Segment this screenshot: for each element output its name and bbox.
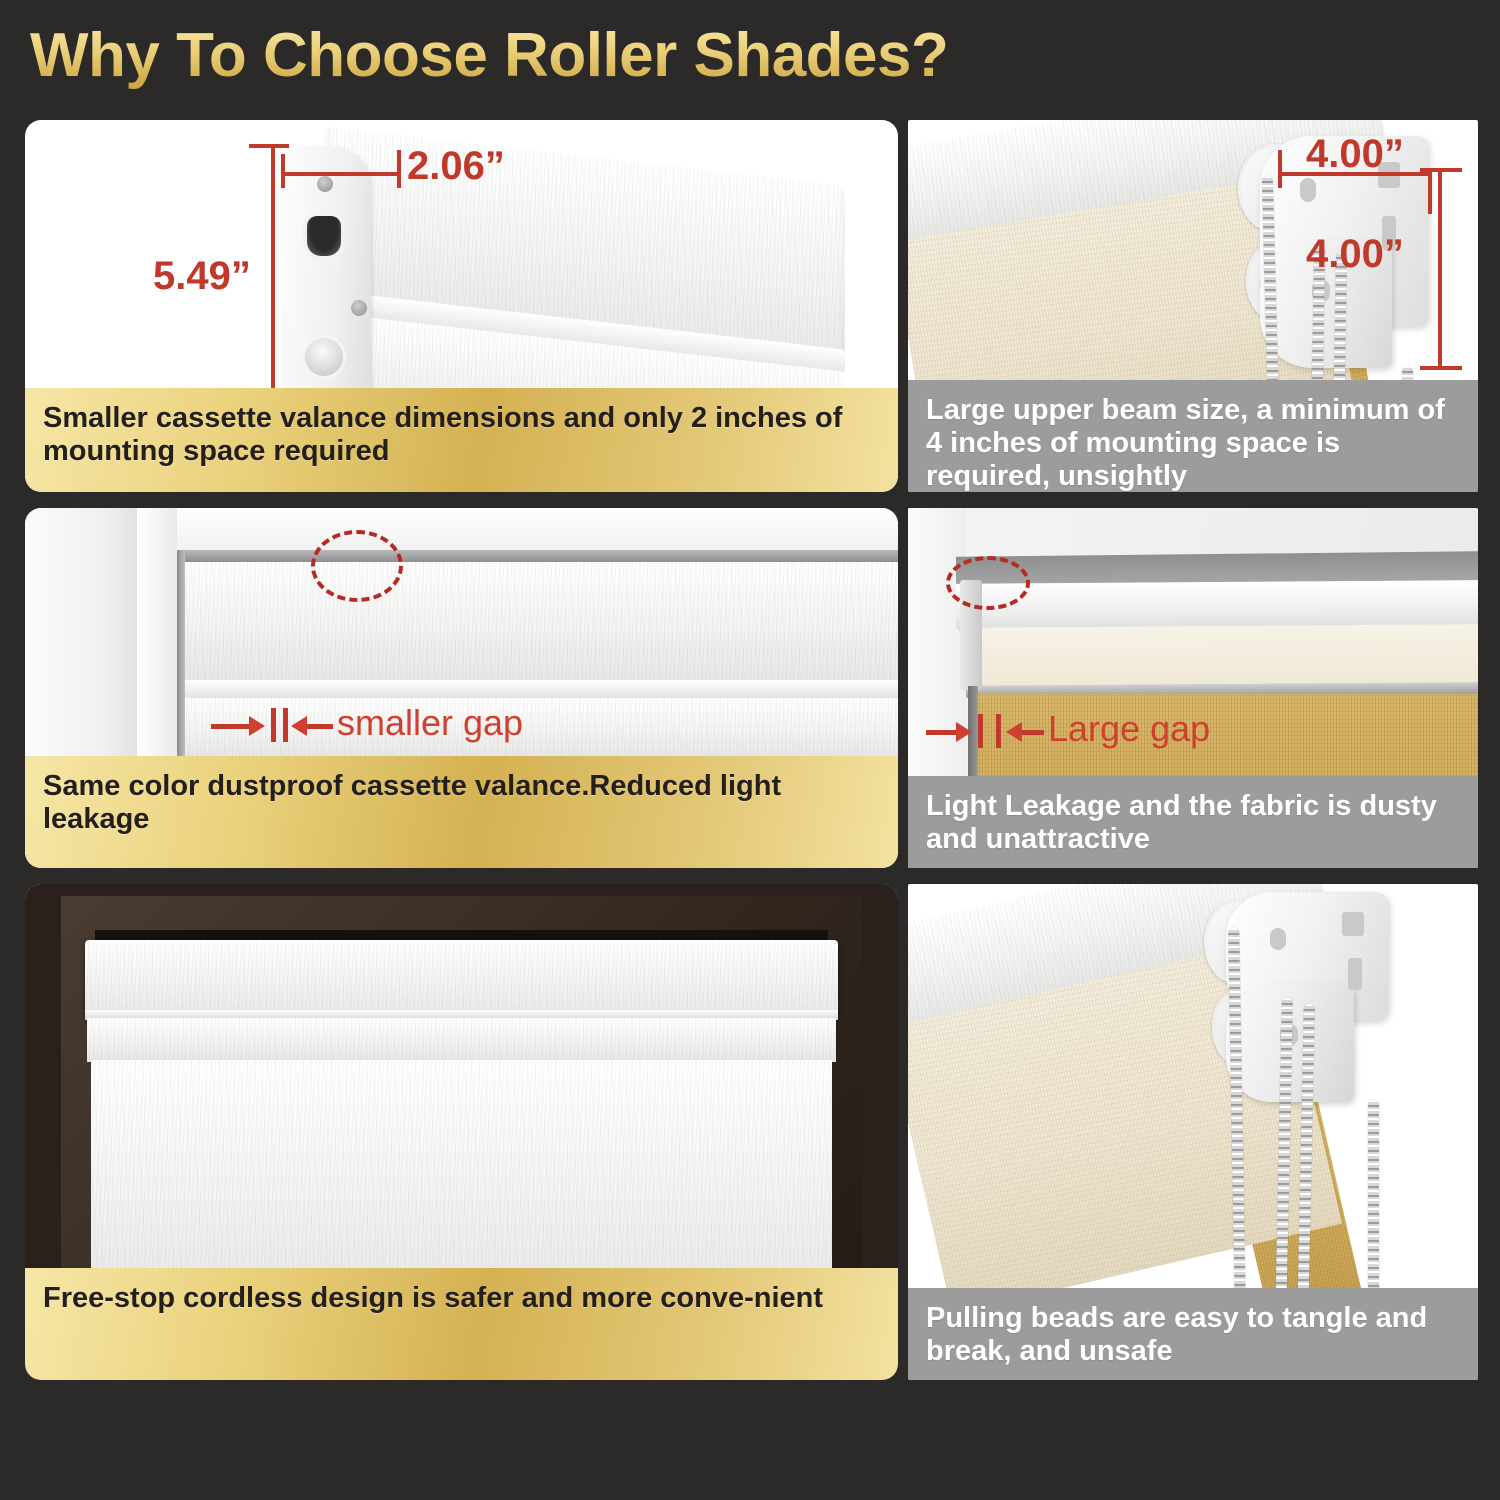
shade-fabric bbox=[91, 1060, 832, 1302]
cassette-lip bbox=[177, 680, 898, 698]
mount-knob bbox=[305, 338, 343, 376]
highlight-circle bbox=[946, 556, 1030, 610]
gap-label: Large gap bbox=[1048, 708, 1210, 750]
caption-top-left: Smaller cassette valance dimensions and … bbox=[25, 388, 898, 492]
height-dimension-line bbox=[271, 146, 275, 408]
roller-roll bbox=[87, 1018, 836, 1062]
gap-tick bbox=[978, 714, 983, 748]
gap-arrow-line bbox=[307, 724, 333, 729]
gap-arrow-line bbox=[926, 730, 960, 735]
page-title: Why To Choose Roller Shades? bbox=[30, 20, 948, 91]
gap-arrow-right-icon bbox=[956, 722, 972, 742]
width-dimension-line bbox=[283, 172, 401, 176]
window-head bbox=[177, 508, 898, 550]
bracket-notch bbox=[1300, 178, 1316, 202]
cassette-valance bbox=[85, 940, 838, 1020]
width-dimension-tick bbox=[1428, 172, 1432, 214]
gap-tick bbox=[996, 714, 1001, 748]
caption-top-right: Large upper beam size, a minimum of 4 in… bbox=[908, 380, 1478, 492]
bracket-notch bbox=[1348, 958, 1362, 990]
panel-top-left: 2.06” 5.49” Smaller cassette valance dim… bbox=[25, 120, 898, 492]
height-dimension-line bbox=[1438, 170, 1442, 370]
gap-arrow-left-icon bbox=[1006, 722, 1022, 742]
gap-arrow-line bbox=[1022, 730, 1044, 735]
width-dimension-tick bbox=[397, 150, 401, 188]
width-dimension-tick bbox=[281, 154, 285, 188]
cassette-valance bbox=[183, 562, 898, 680]
panel-bottom-left: Free-stop cordless design is safer and m… bbox=[25, 884, 898, 1380]
gap-arrow-right-icon bbox=[249, 716, 265, 736]
gap-arrow-left-icon bbox=[291, 716, 307, 736]
caption-middle-right: Light Leakage and the fabric is dusty an… bbox=[908, 776, 1478, 868]
height-dimension-label: 5.49” bbox=[153, 254, 251, 299]
panel-bottom-right: Pulling beads are easy to tangle and bre… bbox=[908, 884, 1478, 1380]
caption-bottom-right: Pulling beads are easy to tangle and bre… bbox=[908, 1288, 1478, 1380]
gap-label: smaller gap bbox=[337, 702, 523, 744]
cream-fabric bbox=[966, 624, 1478, 690]
gap-tick bbox=[283, 708, 288, 742]
height-dimension-label: 4.00” bbox=[1306, 232, 1404, 277]
width-dimension-label: 2.06” bbox=[407, 144, 505, 189]
gap-tick bbox=[271, 708, 276, 742]
bracket-notch bbox=[1342, 912, 1364, 936]
cassette-top-rail bbox=[183, 550, 898, 562]
height-dimension-tick bbox=[1420, 366, 1462, 370]
bracket-notch bbox=[1270, 928, 1286, 950]
screw-icon bbox=[317, 176, 333, 192]
height-dimension-tick bbox=[1420, 168, 1462, 172]
panel-middle-left: smaller gap Same color dustproof cassett… bbox=[25, 508, 898, 868]
gap-arrow-line bbox=[211, 724, 253, 729]
caption-bottom-left: Free-stop cordless design is safer and m… bbox=[25, 1268, 898, 1380]
caption-middle-left: Same color dustproof cassette valance.Re… bbox=[25, 756, 898, 868]
panel-middle-right: Large gap Light Leakage and the fabric i… bbox=[908, 508, 1478, 868]
valance-slot bbox=[307, 216, 341, 256]
width-dimension-label: 4.00” bbox=[1306, 132, 1404, 177]
highlight-circle bbox=[311, 530, 403, 602]
height-dimension-tick bbox=[249, 144, 289, 148]
page-header: Why To Choose Roller Shades? bbox=[0, 0, 1500, 112]
panel-top-right: 4.00” 4.00” Large upper beam size, a min… bbox=[908, 120, 1478, 492]
screw-icon bbox=[351, 300, 367, 316]
width-dimension-tick bbox=[1278, 150, 1282, 188]
